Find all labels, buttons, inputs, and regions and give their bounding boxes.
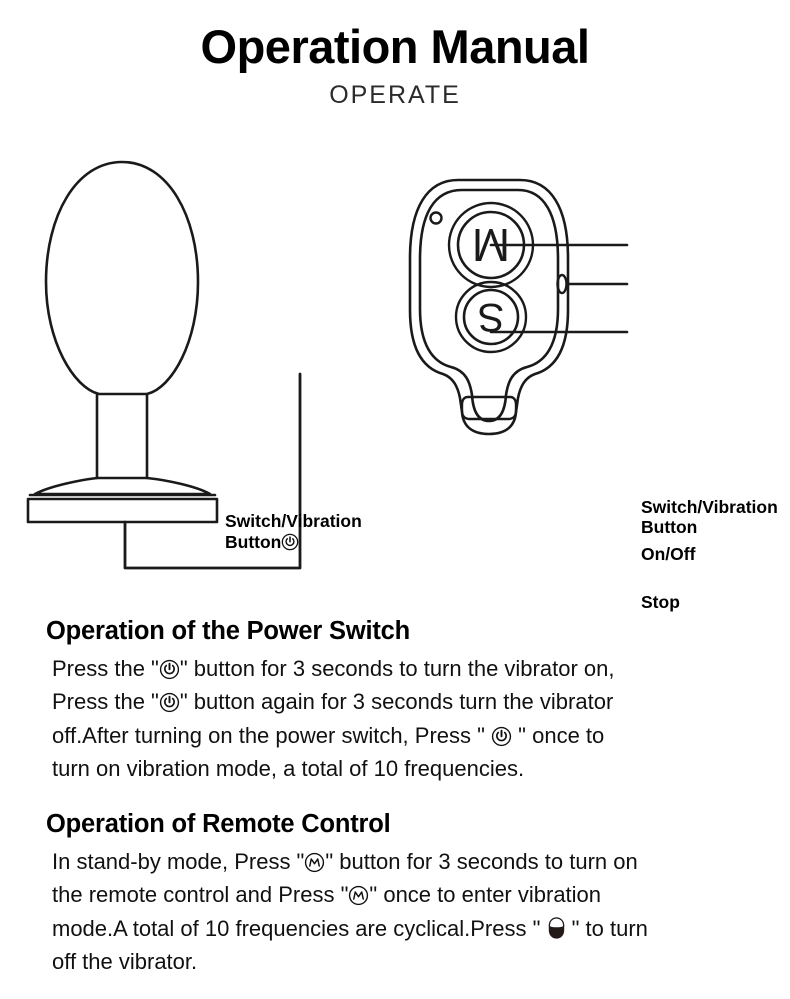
remote-keychain-slot	[462, 397, 516, 419]
label-remote-stop: Stop	[641, 592, 680, 612]
paragraph-text: Press the "	[52, 656, 159, 681]
paragraph-text: " button for 3 seconds to turn on	[325, 849, 637, 874]
product-base-slab	[28, 499, 217, 522]
circled-m-icon	[304, 851, 325, 880]
paragraph-text: " button again for 3 seconds turn the vi…	[180, 689, 613, 714]
paragraph-line: the remote control and Press "" once to …	[52, 880, 762, 913]
paragraph-text: " once to	[512, 723, 604, 748]
label-product-switch-vibration: Switch/Vibration Button	[225, 491, 362, 552]
label-remote-onoff: On/Off	[641, 544, 695, 564]
paragraph-text: off the vibrator.	[52, 949, 197, 974]
page-title: Operation Manual	[0, 22, 790, 71]
paragraph-text: mode.A total of 10 frequencies are cycli…	[52, 916, 547, 941]
paragraph-line: In stand-by mode, Press "" button for 3 …	[52, 847, 762, 880]
stop-pill-icon	[547, 916, 566, 947]
section-power-switch-heading: Operation of the Power Switch	[46, 617, 762, 646]
page-subtitle: OPERATE	[0, 81, 790, 110]
paragraph-text: Press the "	[52, 689, 159, 714]
remote-led-indicator	[431, 213, 442, 224]
product-body	[46, 162, 198, 394]
paragraph-line: off.After turning on the power switch, P…	[52, 721, 762, 754]
power-icon	[159, 658, 180, 687]
paragraph-text: " once to enter vibration	[369, 882, 601, 907]
product-base-bevel	[35, 478, 210, 494]
section-remote-control: Operation of Remote Control In stand-by …	[46, 810, 762, 976]
section-remote-control-heading: Operation of Remote Control	[46, 810, 762, 839]
product-neck	[97, 394, 147, 478]
paragraph-text: " button for 3 seconds to turn the vibra…	[180, 656, 615, 681]
paragraph-text: turn on vibration mode, a total of 10 fr…	[52, 756, 524, 781]
power-icon	[491, 725, 512, 754]
paragraph-text: off.After turning on the power switch, P…	[52, 723, 491, 748]
stop-button-glyph: S	[478, 295, 505, 339]
paragraph-text: " to turn	[566, 916, 648, 941]
power-icon	[159, 691, 180, 720]
product-illustration	[28, 162, 217, 522]
paragraph-text: the remote control and Press "	[52, 882, 348, 907]
paragraph-line: mode.A total of 10 frequencies are cycli…	[52, 914, 762, 947]
paragraph-line: turn on vibration mode, a total of 10 fr…	[52, 754, 762, 783]
page-header: Operation Manual OPERATE	[0, 22, 790, 110]
circled-m-icon	[348, 884, 369, 913]
section-power-switch-body: Press the "" button for 3 seconds to tur…	[46, 654, 762, 783]
paragraph-line: Press the "" button for 3 seconds to tur…	[52, 654, 762, 687]
section-power-switch: Operation of the Power Switch Press the …	[46, 617, 762, 783]
product-diagram: MS Switch/Vibration Button Switch/Vibrat…	[0, 150, 790, 595]
section-remote-control-body: In stand-by mode, Press "" button for 3 …	[46, 847, 762, 976]
paragraph-line: off the vibrator.	[52, 947, 762, 976]
mode-button-glyph: M	[472, 219, 510, 271]
paragraph-text: In stand-by mode, Press "	[52, 849, 304, 874]
paragraph-line: Press the "" button again for 3 seconds …	[52, 687, 762, 720]
label-remote-switch-vibration: Switch/Vibration Button	[641, 497, 778, 538]
power-icon	[281, 533, 299, 551]
